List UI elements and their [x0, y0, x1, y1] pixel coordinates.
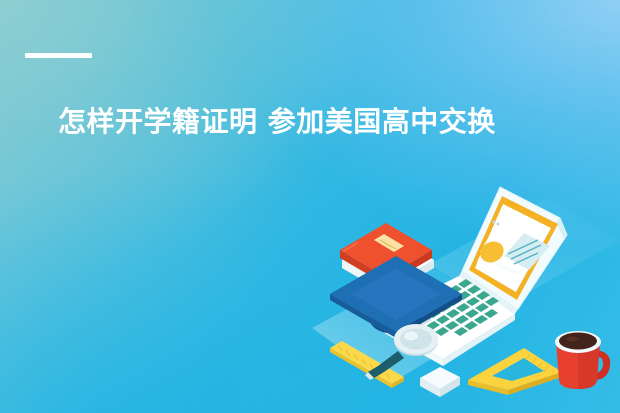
triangle-ruler	[468, 348, 562, 395]
page-title: 怎样开学籍证明 参加美国高中交换	[58, 102, 578, 142]
article-cover-banner: 怎样开学籍证明 参加美国高中交换	[0, 0, 620, 413]
coffee-mug	[555, 331, 610, 389]
isometric-study-desk-illustration	[312, 178, 620, 413]
accent-rule	[25, 53, 92, 58]
eraser	[420, 367, 460, 397]
